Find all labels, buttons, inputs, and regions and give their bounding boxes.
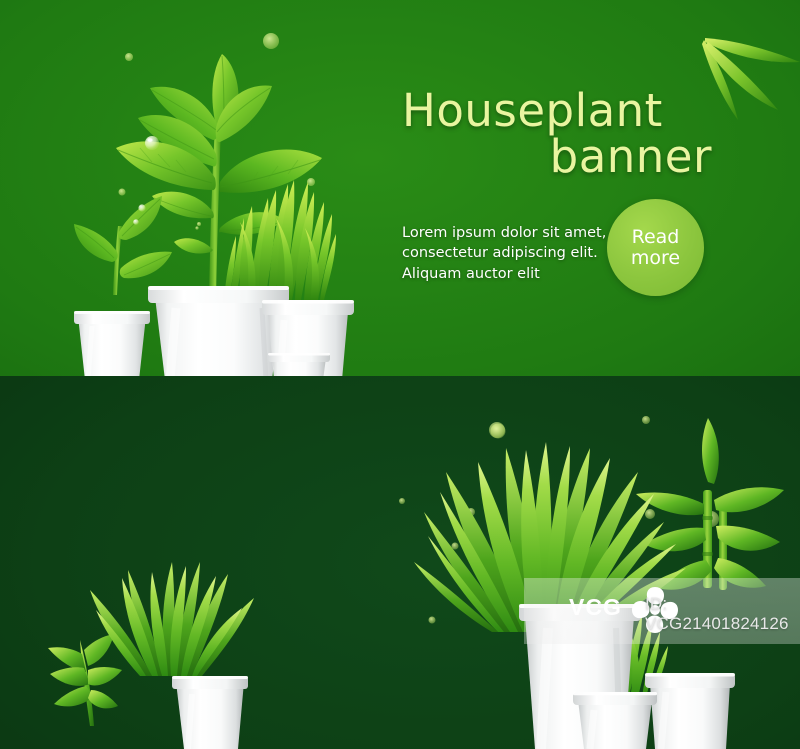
title-line-2: banner: [402, 134, 732, 180]
body-copy: Lorem ipsum dolor sit amet, consectetur …: [402, 223, 617, 285]
pot-small-left-bottom: [172, 676, 248, 749]
banner-houseplant-top: Houseplant banner Lorem ipsum dolor sit …: [0, 0, 800, 376]
pot-small-left: [74, 311, 150, 376]
bottom-banner-illustration: [0, 376, 800, 749]
banner-set: Houseplant banner Lorem ipsum dolor sit …: [0, 0, 800, 749]
read-more-label-line-2: more: [631, 248, 680, 269]
bamboo-leaf-icon: [48, 634, 122, 726]
seedling-plant-left: [74, 196, 172, 295]
grass-plant: [224, 180, 336, 300]
spiky-plant-left: [90, 562, 254, 676]
page-title: Houseplant banner: [402, 88, 732, 180]
pot-dish-sprout: [268, 353, 330, 376]
pot-large-center: [148, 286, 289, 376]
watermark-id: ID: VCG21401824126: [645, 594, 800, 634]
pot-bamboo-right: [645, 673, 735, 749]
bamboo-plant-right: [636, 418, 784, 590]
read-more-label-line-1: Read: [631, 227, 680, 248]
title-line-1: Houseplant: [402, 88, 732, 134]
watermark-brand: VCG: [569, 594, 622, 621]
pot-grass-small: [573, 692, 657, 749]
read-more-button[interactable]: Read more: [607, 199, 704, 296]
banner-houseplant-bottom: Houseplant banner Lorem ipsum dolor sit …: [0, 376, 800, 749]
